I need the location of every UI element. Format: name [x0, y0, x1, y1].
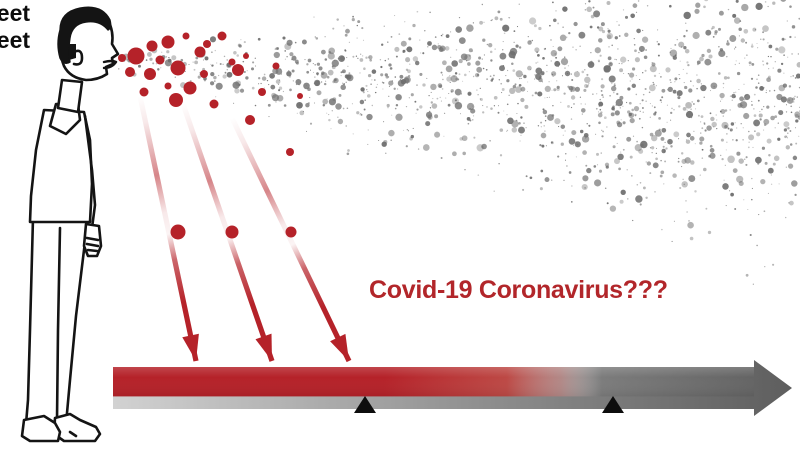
infographic-canvas: Covid-19 Coronavirus??? 3 feet6 feet [0, 0, 800, 449]
scale-tick-label-group: 3 feet6 feet [0, 0, 60, 54]
scale-red-band-shading [113, 367, 754, 396]
distance-scale-bar [0, 0, 800, 449]
tick-3-feet-label: 3 feet [0, 0, 30, 27]
tick-6-feet-label: 6 feet [0, 27, 30, 54]
distance-scale-arrow [113, 360, 792, 416]
